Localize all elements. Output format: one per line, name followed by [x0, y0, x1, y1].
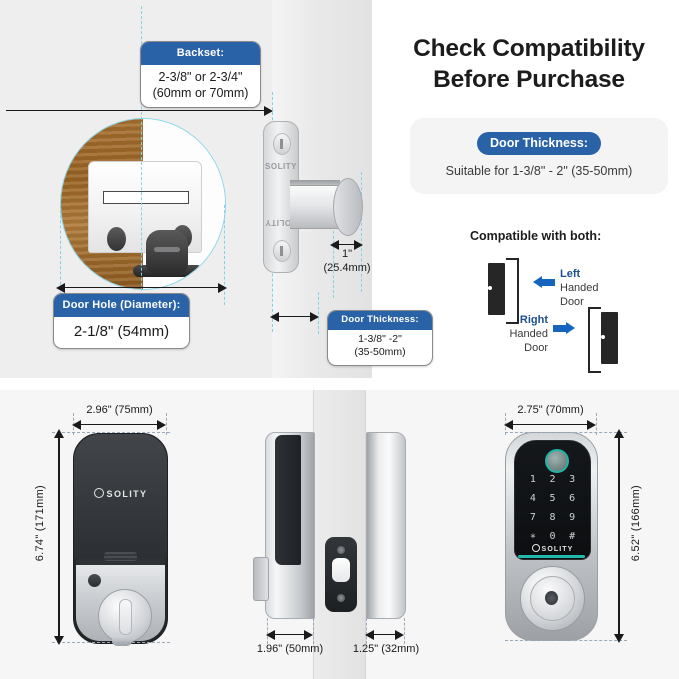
side-exterior-depth-label: 1.25" (32mm)	[334, 643, 438, 657]
door-hole-arrow-head-left	[56, 283, 65, 293]
keypad-key[interactable]: 8	[543, 512, 563, 523]
side-view-interior-dark-face	[275, 435, 301, 565]
keypad-width-arrow-left	[504, 420, 513, 430]
interior-height-label: 6.74" (171mm)	[34, 485, 46, 561]
left-handed-arrow	[541, 279, 555, 286]
keypad-key[interactable]: #	[562, 531, 582, 542]
keypad-key[interactable]: 7	[523, 512, 543, 523]
keypad-grid[interactable]: 1 2 3 4 5 6 7 8 9 ∗ 0 #	[523, 474, 582, 542]
keypad-height-guide-top	[505, 432, 627, 433]
keypad-height-arrow-up	[614, 429, 624, 438]
keypad-height-label: 6.52" (166mm)	[630, 485, 642, 561]
keypad-key[interactable]: 6	[562, 493, 582, 504]
strike-screw-top	[337, 546, 345, 554]
fingerprint-sensor-icon[interactable]	[545, 449, 569, 473]
keypad-lock-product: 1 2 3 4 5 6 7 8 9 ∗ 0 # SOLITY	[505, 432, 598, 641]
keypad-brand: SOLITY	[515, 544, 590, 553]
callout-door-hole: Door Hole (Diameter): 2-1/8" (54mm)	[53, 293, 190, 349]
latch-dimension-label: 1" (25.4mm)	[312, 248, 382, 276]
interior-height-arrow-up	[54, 429, 64, 438]
right-handed-label: Right Handed Door	[500, 313, 548, 355]
keypad-key[interactable]: 4	[523, 493, 543, 504]
side-exterior-guide-right	[404, 618, 405, 644]
lock-knob	[146, 230, 188, 274]
top-section: SOLITY SOLITY 1" (25.4mm) Backset: 2-3/8…	[0, 0, 679, 378]
compatibility-title: Compatible with both:	[470, 229, 601, 243]
keypad-key[interactable]: ∗	[523, 531, 543, 542]
bottom-door-panel	[313, 390, 366, 679]
side-exterior-arrow-left	[365, 630, 374, 640]
left-handed-label: Left Handed Door	[560, 267, 599, 309]
keypad-accent-strip	[518, 555, 585, 558]
callout-backset: Backset: 2-3/8" or 2-3/4" (60mm or 70mm)	[140, 41, 261, 108]
right-handed-arrow	[553, 325, 567, 332]
keypad-key[interactable]: 1	[523, 474, 543, 485]
solity-logo-mark	[532, 544, 540, 552]
side-interior-depth-label: 1.96" (50mm)	[238, 643, 342, 657]
page-title-line2: Before Purchase	[386, 65, 672, 96]
interior-height-arrow-down	[54, 636, 64, 645]
side-interior-arrow-line	[272, 634, 308, 635]
keypad-key[interactable]: 3	[562, 474, 582, 485]
side-interior-arrow-left	[266, 630, 275, 640]
keyhole-icon	[545, 591, 558, 605]
page-title-line1: Check Compatibility	[386, 34, 672, 65]
door-hole-arrow-line	[62, 287, 222, 288]
side-view-bolt-tail	[253, 557, 269, 601]
compatibility-infographic: SOLITY SOLITY 1" (25.4mm) Backset: 2-3/8…	[0, 0, 679, 679]
door-hole-arrow-head-right	[218, 283, 227, 293]
callout-backset-title: Backset:	[141, 42, 260, 65]
interior-lock-vent	[104, 552, 137, 561]
deadbolt-end-cap	[333, 178, 363, 236]
callout-door-hole-value: 2-1/8" (54mm)	[54, 317, 189, 349]
interior-height-guide-top	[52, 432, 170, 433]
interior-thumbturn	[98, 589, 152, 643]
keypad-height-arrow-down	[614, 634, 624, 643]
door-thickness-pill: Door Thickness:	[477, 132, 601, 155]
keypad-width-label: 2.75" (70mm)	[503, 404, 598, 418]
door-thickness-arrow-head-left	[270, 312, 279, 322]
interior-width-label: 2.96" (75mm)	[72, 404, 167, 418]
door-thickness-description: Suitable for 1-3/8" - 2" (35-50mm)	[420, 164, 658, 178]
side-interior-arrow-right	[304, 630, 313, 640]
interior-width-arrow-left	[72, 420, 81, 430]
right-handed-arrow-head	[566, 322, 575, 334]
strike-screw-bottom	[337, 594, 345, 602]
side-exterior-arrow-right	[395, 630, 404, 640]
keypad-key[interactable]: 9	[562, 512, 582, 523]
interior-lock-product: SOLITY	[73, 433, 168, 644]
backset-arrow-line	[6, 110, 268, 111]
keypad-width-arrow-right	[587, 420, 596, 430]
keypad-width-arrow-line	[510, 424, 591, 425]
solity-logo-mark	[94, 488, 104, 498]
strike-plate-hole	[332, 558, 350, 582]
keypad-key[interactable]: 5	[543, 493, 563, 504]
door-thickness-arrow-line	[276, 316, 314, 317]
keypad-screen: 1 2 3 4 5 6 7 8 9 ∗ 0 # SOLITY	[514, 440, 591, 560]
side-view-exterior-body	[366, 432, 406, 619]
side-interior-guide-right	[313, 618, 314, 644]
keypad-key[interactable]: 0	[543, 531, 563, 542]
keypad-key[interactable]: 2	[543, 474, 563, 485]
interior-height-guide-bottom	[52, 642, 170, 643]
callout-door-thickness-body: 1-3/8" -2" (35-50mm)	[328, 330, 432, 365]
backset-arrow-head-right	[264, 106, 273, 116]
interior-width-arrow-line	[78, 424, 161, 425]
keypad-height-guide-bottom	[505, 640, 627, 641]
interior-lock-brand: SOLITY	[74, 488, 167, 499]
door-thickness-card: Door Thickness: Suitable for 1-3/8" - 2"…	[410, 118, 668, 194]
latch-screw-top	[273, 133, 291, 155]
door-thickness-arrow-head-right	[310, 312, 319, 322]
interior-width-arrow-right	[157, 420, 166, 430]
page-title: Check Compatibility Before Purchase	[386, 34, 672, 95]
latch-screw-bottom	[273, 240, 291, 262]
lock-hole-left	[107, 227, 126, 251]
interior-height-arrow-line	[58, 437, 60, 637]
callout-door-hole-title: Door Hole (Diameter):	[54, 294, 189, 317]
interior-lock-button	[88, 574, 101, 587]
lock-slot	[103, 191, 189, 204]
callout-door-thickness: Door Thickness: 1-3/8" -2" (35-50mm)	[327, 310, 433, 366]
callout-backset-body: 2-3/8" or 2-3/4" (60mm or 70mm)	[141, 65, 260, 108]
keypad-height-arrow-line	[618, 437, 620, 635]
latch-brand-top: SOLITY	[264, 162, 298, 171]
door-hole-magnifier	[60, 118, 226, 290]
left-handed-arrow-head	[533, 276, 542, 288]
callout-door-thickness-title: Door Thickness:	[328, 311, 432, 330]
